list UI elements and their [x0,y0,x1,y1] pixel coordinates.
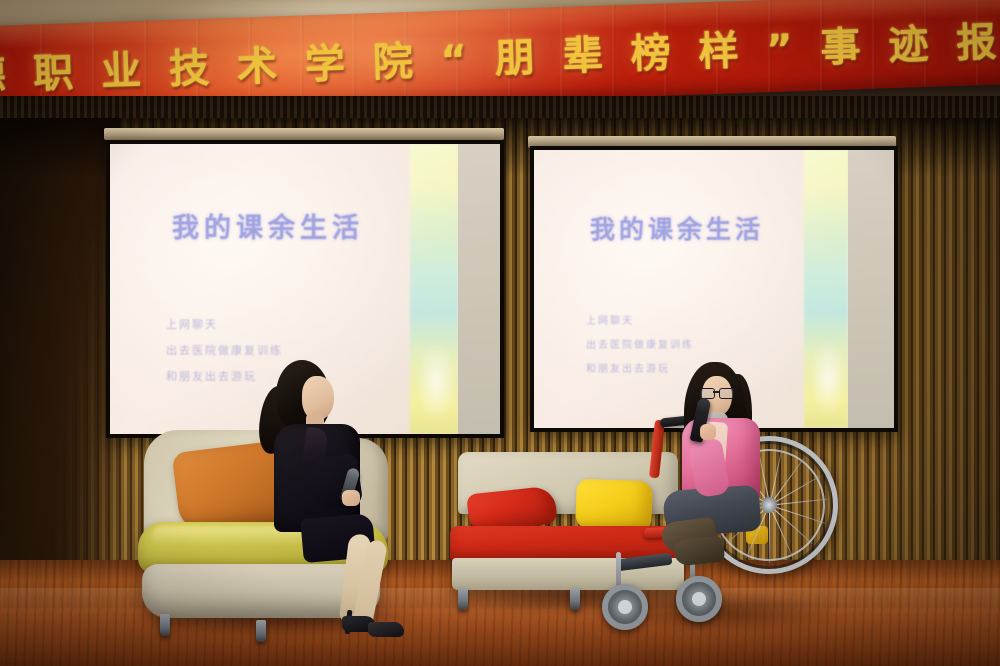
right-slide-line-3: 和朋友出去游玩 [586,362,670,378]
sofa-leg-left [458,588,468,610]
speaker-in-wheelchair [660,362,790,592]
sofa-leg-right [570,588,580,610]
left-slide-line-1: 上网聊天 [166,316,218,333]
left-slide-title: 我的课余生活 [172,206,364,245]
speaker-hand [700,424,716,440]
armchair-leg-left [160,614,170,636]
glasses-lens-right [719,388,734,399]
speaker-glasses-icon [700,388,734,397]
wheelchair-caster-left [602,584,648,630]
right-screen-image-band [804,150,848,428]
left-screen-edge-band [458,144,500,434]
photo-scene: 正 德 职 业 技 术 学 院 “ 朋 辈 榜 样 ” 事 迹 报 告 会 我的… [0,0,1000,666]
right-screen-edge-band [848,150,894,428]
right-slide-title: 我的课余生活 [590,210,764,246]
right-slide-line-2: 出去医院做康复训练 [586,338,694,354]
host-hand [342,490,360,506]
speaker-boot-right [673,535,725,566]
left-slide-line-3: 和朋友出去游玩 [166,368,257,385]
host-interviewer [258,358,418,646]
host-shoe-back [368,622,404,637]
left-slide-line-2: 出去医院做康复训练 [166,342,283,359]
left-screen-roller [104,128,504,140]
right-slide-line-1: 上网聊天 [586,314,634,330]
